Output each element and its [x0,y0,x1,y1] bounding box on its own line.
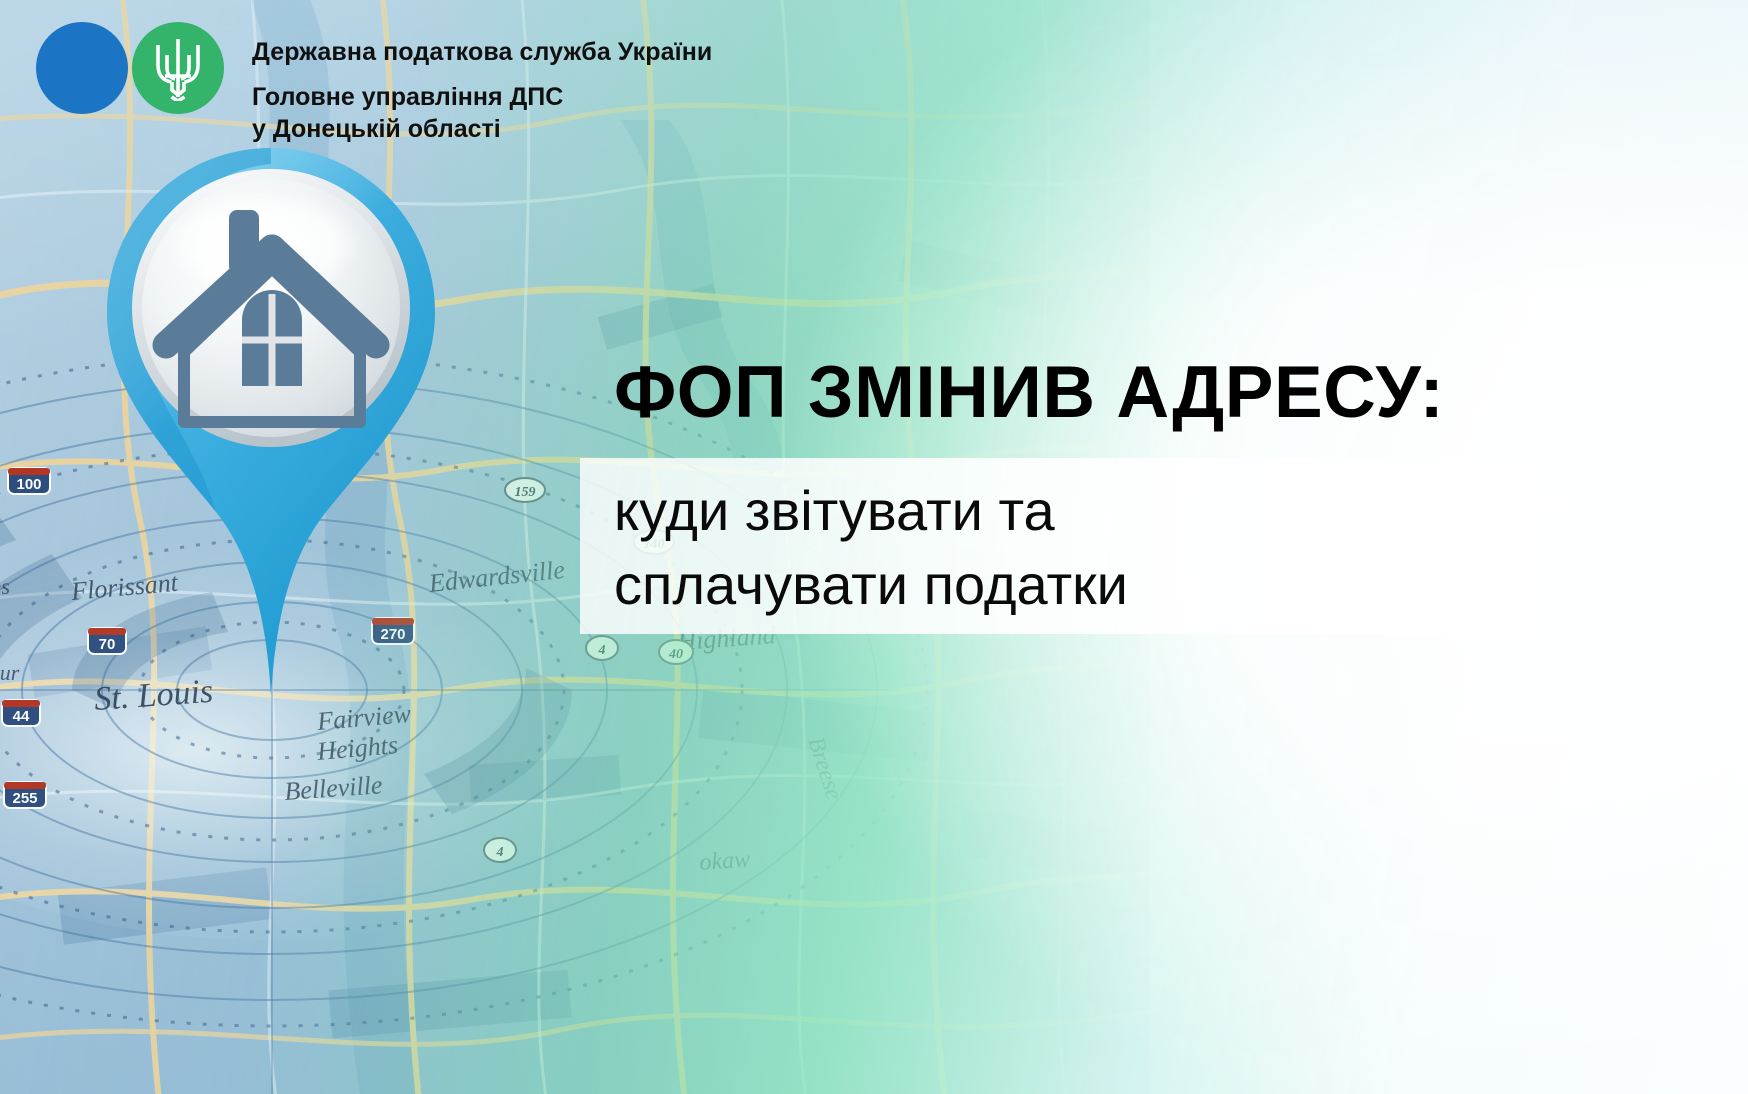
brand-title-line-3: у Донецькій області [252,113,712,145]
map-pin-house-icon [96,140,446,710]
brand-text-block: Державна податкова служба України Головн… [252,16,712,145]
subtitle-line-1: куди звітувати та [614,474,1128,548]
green-circle-logo-mark [132,22,224,114]
banner-root: Florissant es eur Edwardsville St. Louis… [0,0,1748,1094]
subtitle-line-2: сплачувати податки [614,548,1128,622]
subtitle-text-block: куди звітувати та сплачувати податки [614,474,1128,623]
blue-circle-logo-mark [36,22,128,114]
ukraine-trident-icon [152,35,204,101]
brand-header: Державна податкова служба України Головн… [0,0,712,145]
headline-title: ФОП ЗМІНИВ АДРЕСУ: [614,356,1444,429]
brand-title-line-2: Головне управління ДПС [252,81,712,113]
brand-title-line-1: Державна податкова служба України [252,38,712,67]
logo-marks [36,22,224,114]
